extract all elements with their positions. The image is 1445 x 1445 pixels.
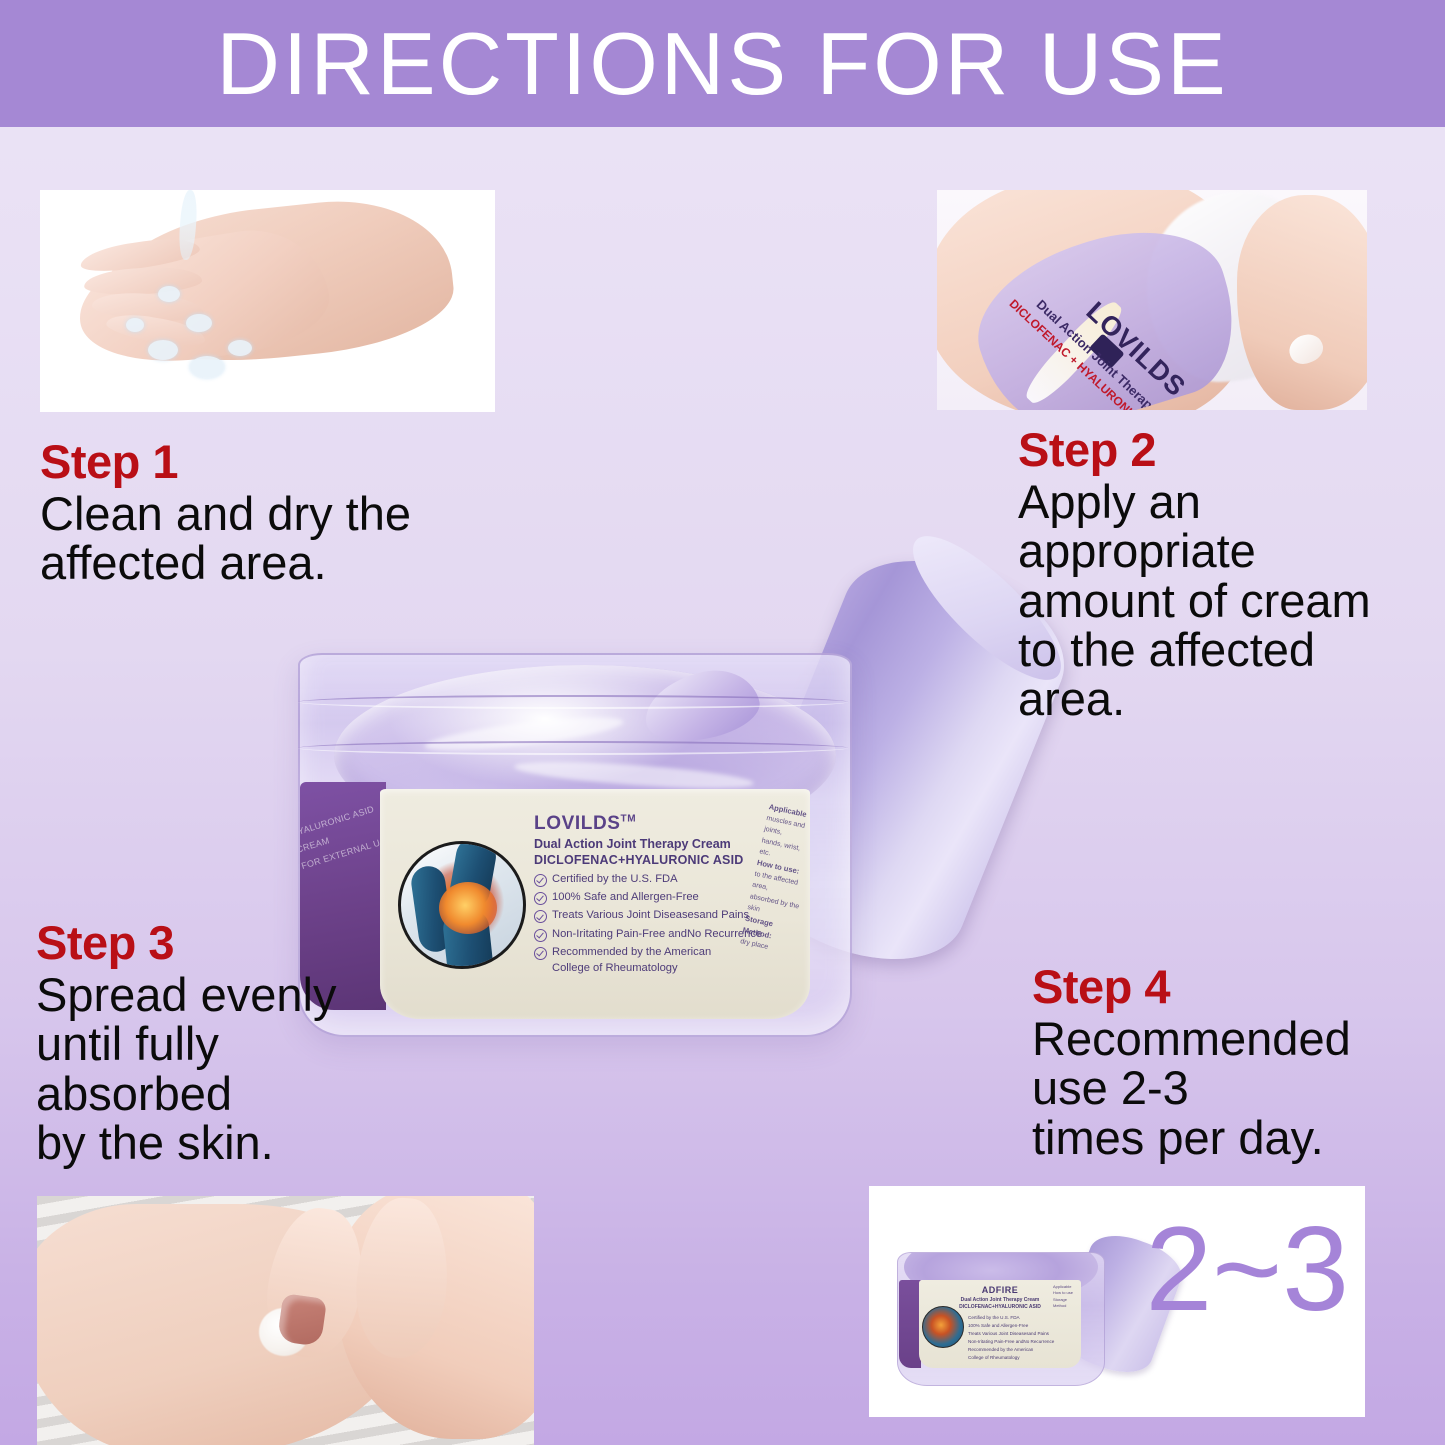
- hand-shape-right: [1237, 195, 1367, 410]
- mini-knee-joint-icon: [922, 1306, 964, 1348]
- step3-label: Step 3: [36, 918, 436, 968]
- water-droplet: [158, 286, 180, 302]
- benefit-text: Certified by the U.S. FDA: [552, 872, 678, 888]
- check-circle-icon: [534, 947, 547, 960]
- jar-label-purple-text: HYALURONIC ASID CREAM FOR EXTERNAL USE O…: [300, 788, 386, 875]
- mini-product-jar: ADFIRE Dual Action Joint Therapy Cream D…: [897, 1218, 1103, 1384]
- mini-benefit-item: Recommended by the American: [968, 1346, 1078, 1354]
- water-droplet: [228, 340, 252, 356]
- step4-body: Recommended use 2-3 times per day.: [1032, 1014, 1432, 1162]
- benefit-text: Treats Various Joint Diseasesand Pains: [552, 908, 749, 924]
- storage-heading: Storage Method:: [742, 914, 774, 941]
- benefit-text: Non-Iritating Pain-Free andNo Recurrence: [552, 927, 762, 943]
- jar-rim: [298, 695, 848, 709]
- mini-benefit-item: Non-Iritating Pain-Free andNo Recurrence: [968, 1338, 1078, 1346]
- step1-text-block: Step 1 Clean and dry the affected area.: [40, 437, 510, 588]
- mini-benefit-item: 100% Safe and Allergen-Free: [968, 1322, 1078, 1330]
- step4-label: Step 4: [1032, 962, 1432, 1012]
- mini-label-side-text: Applicable How to use Storage Method: [1053, 1284, 1079, 1310]
- jar-label: LOVILDSTM Dual Action Joint Therapy Crea…: [380, 789, 810, 1019]
- step1-label: Step 1: [40, 437, 510, 487]
- check-circle-icon: [534, 929, 547, 942]
- mini-label-purple-panel: [899, 1280, 921, 1368]
- inflammation-glow: [439, 882, 497, 934]
- trademark-symbol: TM: [621, 814, 637, 825]
- benefit-text: Recommended by the American College of R…: [552, 945, 711, 977]
- mini-benefit-item: College of Rheumatology: [968, 1354, 1078, 1362]
- check-circle-icon: [534, 874, 547, 887]
- step4-text-block: Step 4 Recommended use 2-3 times per day…: [1032, 962, 1432, 1162]
- mini-benefit-item: Certified by the U.S. FDA: [968, 1314, 1078, 1322]
- water-droplet: [148, 340, 178, 360]
- step2-body: Apply an appropriate amount of cream to …: [1018, 477, 1418, 724]
- water-droplet: [190, 356, 224, 378]
- brand-word: LOVILDS: [534, 813, 621, 834]
- infographic-root: DIRECTIONS FOR USE LOVILDS Dual Action J…: [0, 0, 1445, 1445]
- step3-text-block: Step 3 Spread evenly until fully absorbe…: [36, 918, 436, 1167]
- step4-photo-jar-and-frequency: ADFIRE Dual Action Joint Therapy Cream D…: [869, 1186, 1365, 1417]
- header-band: DIRECTIONS FOR USE: [0, 0, 1445, 127]
- step1-body: Clean and dry the affected area.: [40, 489, 510, 588]
- water-droplet: [126, 318, 144, 332]
- check-circle-icon: [534, 892, 547, 905]
- page-title: DIRECTIONS FOR USE: [216, 20, 1228, 108]
- check-circle-icon: [534, 910, 547, 923]
- step2-photo-hand-with-jar: LOVILDS Dual Action Joint Therapy Cream …: [937, 190, 1367, 410]
- step3-body: Spread evenly until fully absorbed by th…: [36, 970, 436, 1167]
- mini-jar-label: ADFIRE Dual Action Joint Therapy Cream D…: [919, 1280, 1081, 1368]
- frequency-value: 2~3: [1145, 1194, 1349, 1344]
- jar-rim: [298, 741, 848, 755]
- product-brand-name: LOVILDSTM: [534, 813, 802, 835]
- step2-text-block: Step 2 Apply an appropriate amount of cr…: [1018, 425, 1418, 724]
- water-droplet: [186, 314, 212, 332]
- step1-photo-hands-washing: [40, 190, 495, 412]
- step2-label: Step 2: [1018, 425, 1418, 475]
- benefit-text: 100% Safe and Allergen-Free: [552, 890, 699, 906]
- mini-benefit-list: Certified by the U.S. FDA 100% Safe and …: [968, 1314, 1078, 1362]
- step3-photo-spreading-cream: [37, 1196, 534, 1445]
- mini-benefit-item: Treats Various Joint Diseasesand Pains: [968, 1330, 1078, 1338]
- gel-swirl: [514, 757, 755, 794]
